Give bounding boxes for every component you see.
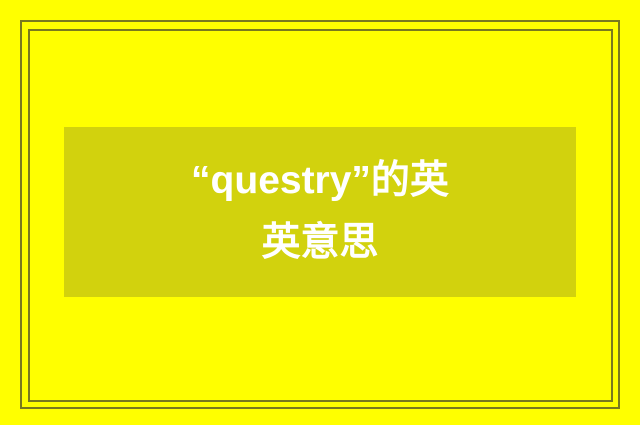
headline-block: “questry”的英英意思: [64, 127, 576, 297]
page-title: “questry”的英英意思: [186, 150, 454, 274]
poster-canvas: “questry”的英英意思: [0, 0, 640, 425]
